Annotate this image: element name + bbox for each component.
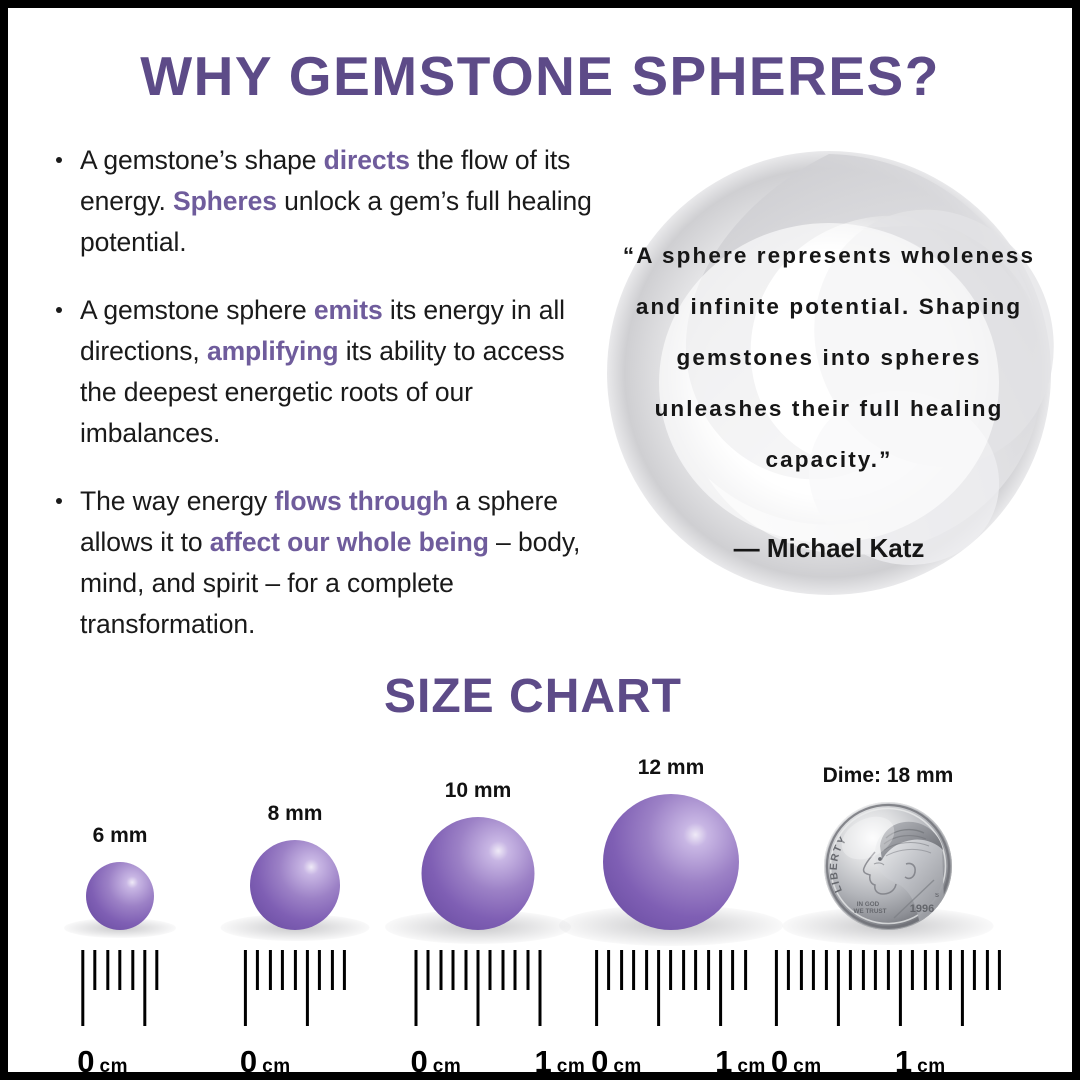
ruler-cm-label: 0cm <box>240 1044 291 1080</box>
ruler-tick-minor <box>949 950 952 990</box>
ruler-tick-major <box>477 950 480 1026</box>
bullet-dot-icon <box>56 157 62 163</box>
ruler-tick-minor <box>452 950 455 990</box>
ruler-cm-unit: cm <box>100 1056 128 1077</box>
ruler-cm-label: 0cm <box>411 1044 462 1080</box>
ruler-cm-number: 1 <box>895 1044 912 1079</box>
ruler-cm-number: 0 <box>411 1044 428 1079</box>
ruler-tick-major <box>306 950 309 1026</box>
ruler-cm-number: 0 <box>240 1044 257 1079</box>
ruler-cm-label: 1cm <box>715 1044 766 1080</box>
bullet-dot-icon <box>56 498 62 504</box>
ruler-tick-minor <box>269 950 272 990</box>
size-item-sphere: 12 mm0cm1cm <box>571 668 771 1080</box>
benefit-keyword: Spheres <box>173 186 277 216</box>
benefit-item: A gemstone’s shape directs the flow of i… <box>44 140 604 263</box>
ruler <box>775 950 1001 1026</box>
ruler-tick-minor <box>281 950 284 990</box>
ruler-tick-minor <box>998 950 1001 990</box>
dime-label: Dime: 18 mm <box>823 764 954 788</box>
benefits-list: A gemstone’s shape directs the flow of i… <box>44 140 604 672</box>
size-chart-row: 6 mm0cm8 mm0cm10 mm0cm1cm12 mm0cm1cmDime… <box>8 668 1080 1080</box>
ruler-cm-label: 0cm <box>77 1044 128 1080</box>
ruler-cm-unit: cm <box>737 1056 765 1077</box>
quote-block: “A sphere represents wholeness and infin… <box>604 148 1054 598</box>
ruler <box>415 950 542 1026</box>
dime-coin: LIBERTYIN GODWE TRUST1996S <box>824 802 952 930</box>
ruler-tick-minor <box>694 950 697 990</box>
ruler-cm-label: 0cm <box>771 1044 822 1080</box>
ruler-labels: 0cm1cm <box>595 1032 747 1080</box>
ruler-tick-minor <box>427 950 430 990</box>
ruler-labels: 0cm1cm <box>775 1032 1001 1080</box>
ruler-cm-number: 0 <box>591 1044 608 1079</box>
ruler-tick-minor <box>94 950 97 990</box>
gemstone-sphere <box>86 862 154 930</box>
ruler-tick-major <box>81 950 84 1026</box>
benefit-text: A gemstone’s shape <box>80 145 324 175</box>
ruler-cm-unit: cm <box>613 1056 641 1077</box>
sphere-size-label: 8 mm <box>268 802 323 826</box>
size-item-sphere: 8 mm0cm <box>195 668 395 1080</box>
ruler-tick-minor <box>607 950 610 990</box>
ruler-tick-major <box>961 950 964 1026</box>
size-item-sphere: 6 mm0cm <box>20 668 220 1080</box>
ruler-tick-minor <box>439 950 442 990</box>
benefit-keyword: directs <box>324 145 410 175</box>
ruler-cm-label: 1cm <box>895 1044 946 1080</box>
ruler-tick-minor <box>874 950 877 990</box>
benefit-keyword: emits <box>314 295 383 325</box>
ruler-tick-minor <box>118 950 121 990</box>
benefit-keyword: affect our whole being <box>210 527 489 557</box>
quote-author: — Michael Katz <box>622 533 1036 564</box>
ruler-tick-major <box>657 950 660 1026</box>
benefit-keyword: amplifying <box>207 336 339 366</box>
ruler-tick-minor <box>911 950 914 990</box>
size-item-dime: Dime: 18 mmLIBERTYIN GODWE TRUST1996S0cm… <box>788 668 988 1080</box>
ruler-tick-major <box>415 950 418 1026</box>
quote-text: “A sphere represents wholeness and infin… <box>622 230 1036 485</box>
ruler-labels: 0cm1cm <box>415 1032 542 1080</box>
ruler-cm-number: 0 <box>771 1044 788 1079</box>
ruler-tick-minor <box>924 950 927 990</box>
benefit-text: A gemstone sphere <box>80 295 314 325</box>
gemstone-sphere <box>603 794 739 930</box>
ruler-tick-minor <box>707 950 710 990</box>
ruler-tick-minor <box>294 950 297 990</box>
ruler-tick-minor <box>812 950 815 990</box>
ruler-cm-unit: cm <box>433 1056 461 1077</box>
svg-text:WE TRUST: WE TRUST <box>854 908 887 915</box>
ruler-cm-label: 0cm <box>591 1044 642 1080</box>
sphere-size-label: 12 mm <box>638 756 705 780</box>
ruler-tick-minor <box>632 950 635 990</box>
ruler-tick-major <box>595 950 598 1026</box>
page-title: WHY GEMSTONE SPHERES? <box>8 44 1072 108</box>
dime-face: LIBERTYIN GODWE TRUST1996S <box>824 802 952 930</box>
ruler-tick-minor <box>156 950 159 990</box>
svg-text:1996: 1996 <box>910 903 934 915</box>
svg-text:S: S <box>935 893 939 899</box>
ruler-tick-minor <box>849 950 852 990</box>
ruler-tick-major <box>775 950 778 1026</box>
ruler-tick-minor <box>800 950 803 990</box>
ruler-tick-minor <box>787 950 790 990</box>
ruler-tick-minor <box>514 950 517 990</box>
benefit-text: The way energy <box>80 486 274 516</box>
ruler-tick-minor <box>731 950 734 990</box>
ruler-tick-major <box>143 950 146 1026</box>
ruler-cm-unit: cm <box>262 1056 290 1077</box>
benefit-item: The way energy flows through a sphere al… <box>44 481 604 645</box>
ruler-tick-major <box>539 950 542 1026</box>
ruler-cm-unit: cm <box>793 1056 821 1077</box>
ruler-tick-minor <box>682 950 685 990</box>
ruler-tick-major <box>719 950 722 1026</box>
ruler-labels: 0cm <box>244 1032 346 1080</box>
ruler <box>244 950 346 1026</box>
size-item-sphere: 10 mm0cm1cm <box>378 668 578 1080</box>
benefit-keyword: flows through <box>274 486 448 516</box>
ruler-tick-minor <box>669 950 672 990</box>
ruler-tick-minor <box>331 950 334 990</box>
ruler-tick-minor <box>106 950 109 990</box>
ruler-tick-minor <box>825 950 828 990</box>
ruler-tick-major <box>899 950 902 1026</box>
ruler-labels: 0cm <box>81 1032 158 1080</box>
ruler-tick-minor <box>620 950 623 990</box>
bullet-dot-icon <box>56 307 62 313</box>
ruler-tick-minor <box>464 950 467 990</box>
ruler-cm-unit: cm <box>917 1056 945 1077</box>
ruler-tick-minor <box>343 950 346 990</box>
ruler-tick-minor <box>936 950 939 990</box>
ruler-tick-minor <box>645 950 648 990</box>
sphere-size-label: 10 mm <box>445 779 512 803</box>
ruler <box>595 950 747 1026</box>
ruler-tick-minor <box>887 950 890 990</box>
poster-root: WHY GEMSTONE SPHERES? A gemstone’s shape… <box>0 0 1080 1080</box>
ruler-tick-minor <box>973 950 976 990</box>
ruler-cm-number: 1 <box>715 1044 732 1079</box>
ruler-tick-minor <box>131 950 134 990</box>
gemstone-sphere <box>422 817 535 930</box>
ruler-cm-number: 0 <box>77 1044 94 1079</box>
ruler-tick-minor <box>318 950 321 990</box>
ruler-tick-minor <box>986 950 989 990</box>
ruler <box>81 950 158 1026</box>
ruler-tick-major <box>837 950 840 1026</box>
ruler-tick-minor <box>744 950 747 990</box>
ruler-tick-minor <box>256 950 259 990</box>
benefit-item: A gemstone sphere emits its energy in al… <box>44 290 604 454</box>
gemstone-sphere <box>250 840 340 930</box>
ruler-tick-minor <box>489 950 492 990</box>
ruler-tick-minor <box>501 950 504 990</box>
svg-text:IN GOD: IN GOD <box>857 901 880 908</box>
ruler-tick-minor <box>862 950 865 990</box>
ruler-cm-number: 1 <box>535 1044 552 1079</box>
ruler-tick-minor <box>526 950 529 990</box>
ruler-tick-major <box>244 950 247 1026</box>
sphere-size-label: 6 mm <box>93 824 148 848</box>
